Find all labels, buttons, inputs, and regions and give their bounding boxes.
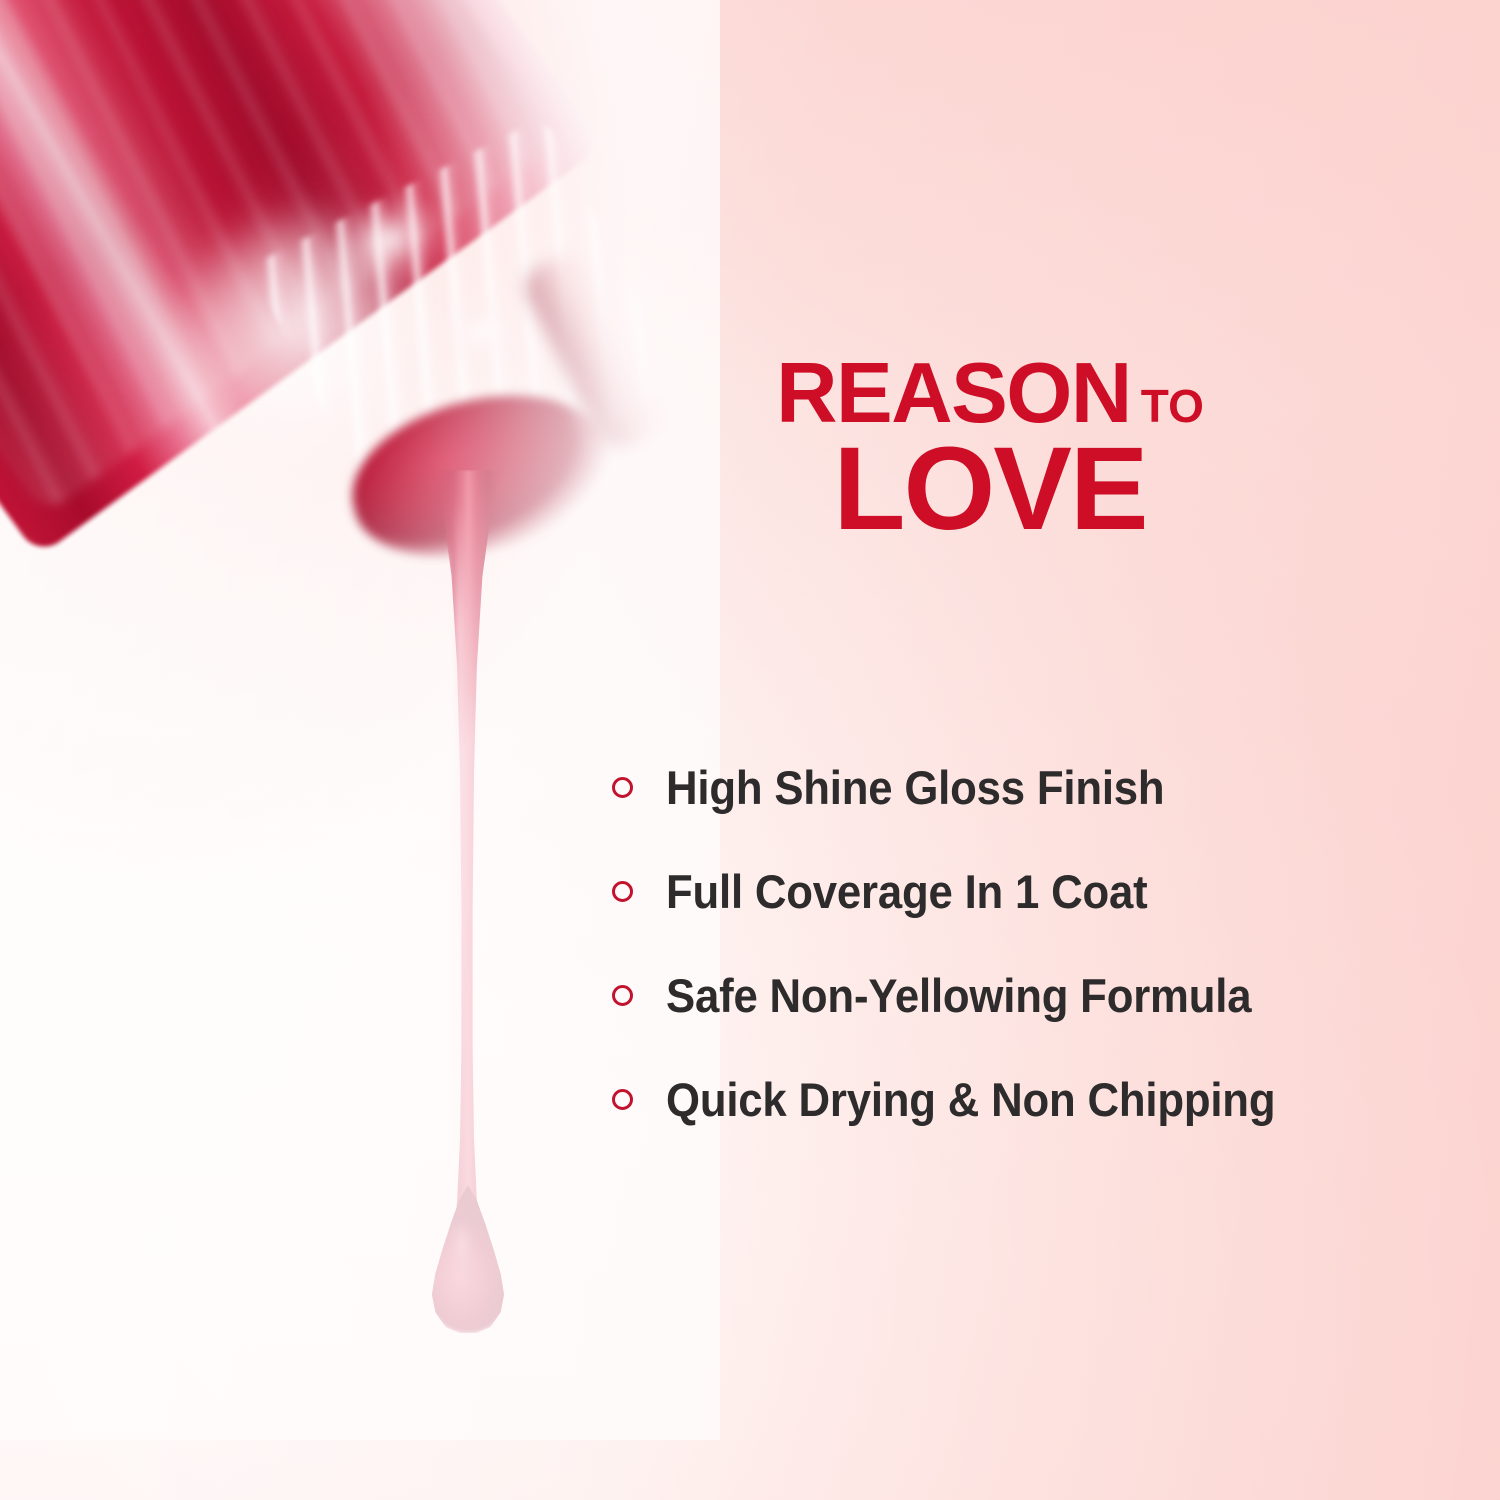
circle-outline-icon: [612, 985, 633, 1006]
list-item: Full Coverage In 1 Coat: [612, 839, 1472, 943]
benefit-label: Quick Drying & Non Chipping: [666, 1072, 1275, 1127]
list-item: Quick Drying & Non Chipping: [612, 1047, 1472, 1151]
list-item: High Shine Gloss Finish: [612, 735, 1472, 839]
circle-outline-icon: [612, 881, 633, 902]
page-title: REASONTO LOVE: [600, 355, 1380, 544]
list-item: Safe Non-Yellowing Formula: [612, 943, 1472, 1047]
headline-word-to: TO: [1141, 380, 1204, 432]
benefit-label: Safe Non-Yellowing Formula: [666, 968, 1251, 1023]
circle-outline-icon: [612, 777, 633, 798]
headline-line-1: REASONTO: [600, 355, 1380, 433]
benefits-list: High Shine Gloss Finish Full Coverage In…: [612, 735, 1472, 1151]
benefit-label: High Shine Gloss Finish: [666, 760, 1164, 815]
circle-outline-icon: [612, 1089, 633, 1110]
headline-word-love: LOVE: [600, 435, 1380, 544]
product-feature-graphic: REASONTO LOVE High Shine Gloss Finish Fu…: [0, 0, 1500, 1500]
benefit-label: Full Coverage In 1 Coat: [666, 864, 1147, 919]
content-panel: REASONTO LOVE High Shine Gloss Finish Fu…: [600, 0, 1500, 1500]
